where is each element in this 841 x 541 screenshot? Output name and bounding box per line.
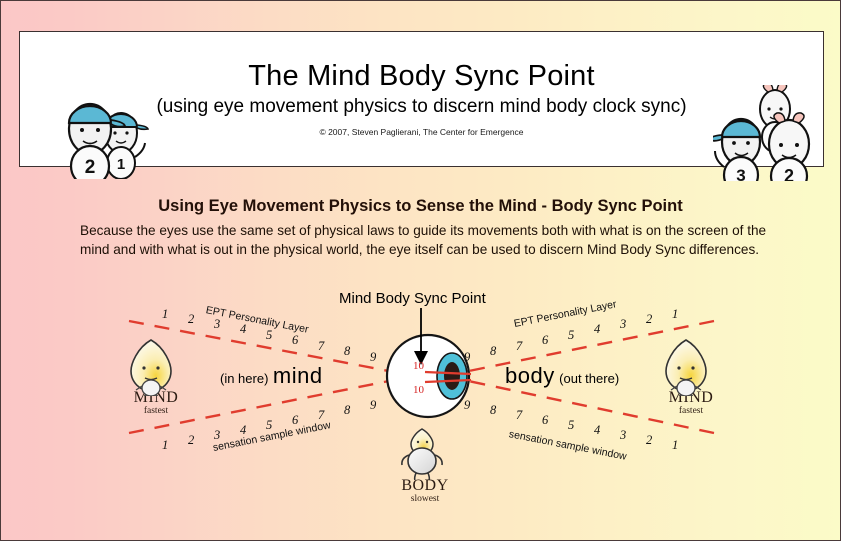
figure-3-blue-cap: 3 xyxy=(713,119,760,181)
scale-upper-right-8: 8 xyxy=(490,344,496,359)
scale-upper-right-7: 7 xyxy=(516,339,522,354)
scale-lower-right-5: 5 xyxy=(568,418,574,433)
svg-text:3: 3 xyxy=(736,166,745,181)
body-figure xyxy=(393,428,451,480)
scale-lower-right-2: 2 xyxy=(646,433,652,448)
section-paragraph: Because the eyes use the same set of phy… xyxy=(80,221,770,259)
scale-lower-left-9: 9 xyxy=(370,398,376,413)
mind-right-caption-sub: fastest xyxy=(646,406,736,416)
section-heading: Using Eye Movement Physics to Sense the … xyxy=(1,197,840,216)
mind-label: mind xyxy=(273,363,323,388)
scale-upper-right-3: 3 xyxy=(620,317,626,332)
eye-value-top: 10 xyxy=(413,360,424,372)
svg-text:2: 2 xyxy=(85,157,96,178)
right-leg xyxy=(428,473,429,480)
scale-upper-left-4: 4 xyxy=(240,322,246,337)
scale-lower-left-2: 2 xyxy=(188,433,194,448)
body-out-there-label: (out there) xyxy=(559,371,619,386)
mind-side-words: (in here) mind xyxy=(220,363,323,389)
mind-left-caption-sub: fastest xyxy=(111,406,201,416)
header-right-figure-group: 1 3 2 xyxy=(713,85,825,181)
sync-point-label: Mind Body Sync Point xyxy=(339,290,486,307)
scale-upper-right-9: 9 xyxy=(464,350,470,365)
scale-upper-left-9: 9 xyxy=(370,350,376,365)
scale-lower-right-6: 6 xyxy=(542,413,548,428)
scale-lower-right-9: 9 xyxy=(464,398,470,413)
scale-upper-left-7: 7 xyxy=(318,339,324,354)
scale-upper-left-2: 2 xyxy=(188,312,194,327)
body-torso xyxy=(408,448,436,474)
scale-lower-right-4: 4 xyxy=(594,423,600,438)
scale-lower-right-3: 3 xyxy=(620,428,626,443)
mind-left-figure xyxy=(123,338,179,396)
scale-upper-left-5: 5 xyxy=(266,328,272,343)
scale-upper-left-8: 8 xyxy=(344,344,350,359)
mind-right-figure xyxy=(658,338,714,396)
scale-lower-right-8: 8 xyxy=(490,403,496,418)
mind-in-here-label: (in here) xyxy=(220,371,268,386)
scale-lower-right-7: 7 xyxy=(516,408,522,423)
scale-upper-right-6: 6 xyxy=(542,333,548,348)
header-left-figure-group: 1 2 xyxy=(59,97,164,179)
scale-upper-right-2: 2 xyxy=(646,312,652,327)
eye-pupil xyxy=(444,362,460,390)
body-label: body xyxy=(505,363,555,388)
svg-text:1: 1 xyxy=(117,156,125,173)
mind-body-sync-poster: The Mind Body Sync Point (using eye move… xyxy=(0,0,841,541)
scale-upper-right-5: 5 xyxy=(568,328,574,343)
eye-value-bottom: 10 xyxy=(413,384,424,396)
scale-lower-left-8: 8 xyxy=(344,403,350,418)
body-side-words: body (out there) xyxy=(505,363,619,389)
scale-upper-right-1: 1 xyxy=(672,307,678,322)
page-title: The Mind Body Sync Point xyxy=(20,60,823,93)
left-leg xyxy=(415,473,416,480)
body-caption-sub: slowest xyxy=(380,494,470,504)
scale-upper-left-3: 3 xyxy=(214,317,220,332)
svg-text:2: 2 xyxy=(784,166,794,181)
scale-lower-right-1: 1 xyxy=(672,438,678,453)
scale-upper-left-1: 1 xyxy=(162,307,168,322)
scale-upper-right-4: 4 xyxy=(594,322,600,337)
scale-lower-left-1: 1 xyxy=(162,438,168,453)
body-caption: BODY slowest xyxy=(380,477,470,504)
scale-upper-left-6: 6 xyxy=(292,333,298,348)
